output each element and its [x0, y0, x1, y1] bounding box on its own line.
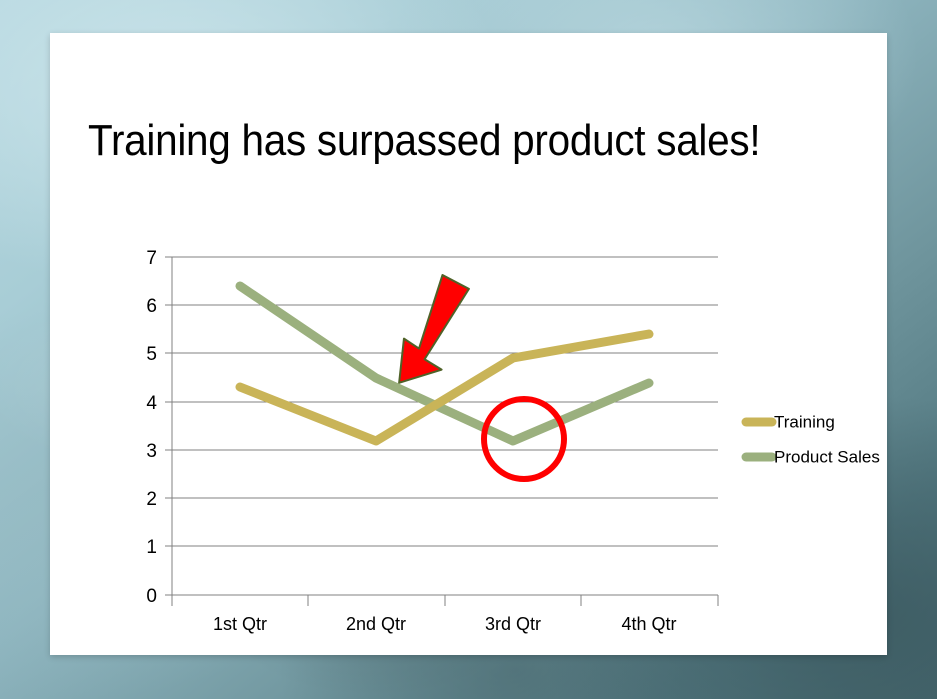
- slide-sheet: Training has surpassed product sales!: [50, 33, 887, 655]
- x-tick-label-q4: 4th Qtr: [621, 614, 676, 634]
- chart-legend: Training Product Sales: [746, 412, 880, 466]
- slide-canvas: Training has surpassed product sales!: [0, 0, 937, 699]
- red-arrow-annotation: [393, 270, 470, 394]
- y-tick-label-5: 5: [146, 344, 157, 365]
- legend-label-training: Training: [774, 412, 835, 431]
- series-line-training: [240, 334, 649, 441]
- y-tick-label-7: 7: [146, 248, 157, 269]
- x-tick-label-q3: 3rd Qtr: [485, 614, 541, 634]
- y-tick-label-3: 3: [146, 441, 157, 462]
- legend-item-product-sales: Product Sales: [746, 447, 880, 466]
- y-tick-label-4: 4: [146, 393, 157, 414]
- y-tick-label-6: 6: [146, 296, 157, 317]
- line-chart: 7 6 5 4 3 2 1 0 1st Qtr 2nd Qtr 3rd Qtr …: [50, 198, 887, 648]
- x-tick-label-q1: 1st Qtr: [213, 614, 267, 634]
- y-tick-label-0: 0: [146, 586, 157, 607]
- page-title: Training has surpassed product sales!: [88, 118, 787, 164]
- y-tick-label-2: 2: [146, 489, 157, 510]
- y-axis-ticks: [165, 257, 172, 595]
- legend-item-training: Training: [746, 412, 835, 431]
- y-tick-label-1: 1: [146, 537, 157, 558]
- legend-label-product-sales: Product Sales: [774, 447, 880, 466]
- chart-svg: 7 6 5 4 3 2 1 0 1st Qtr 2nd Qtr 3rd Qtr …: [50, 198, 887, 648]
- x-tick-label-q2: 2nd Qtr: [346, 614, 406, 634]
- x-axis-ticks: [172, 595, 718, 606]
